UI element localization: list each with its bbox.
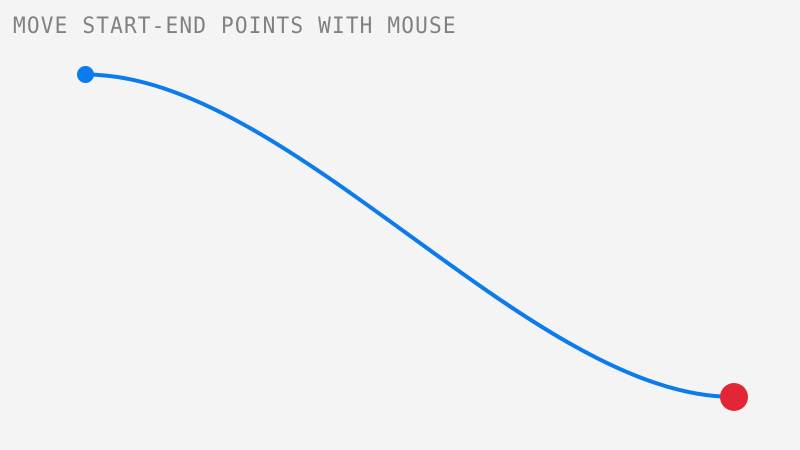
page-title: MOVE START-END POINTS WITH MOUSE — [13, 13, 457, 41]
end-point-handle[interactable] — [720, 383, 748, 411]
bezier-canvas[interactable]: MOVE START-END POINTS WITH MOUSE — [0, 0, 800, 450]
bezier-curve-svg — [0, 0, 800, 450]
start-point-handle[interactable] — [77, 66, 94, 83]
bezier-curve-path — [86, 75, 735, 398]
